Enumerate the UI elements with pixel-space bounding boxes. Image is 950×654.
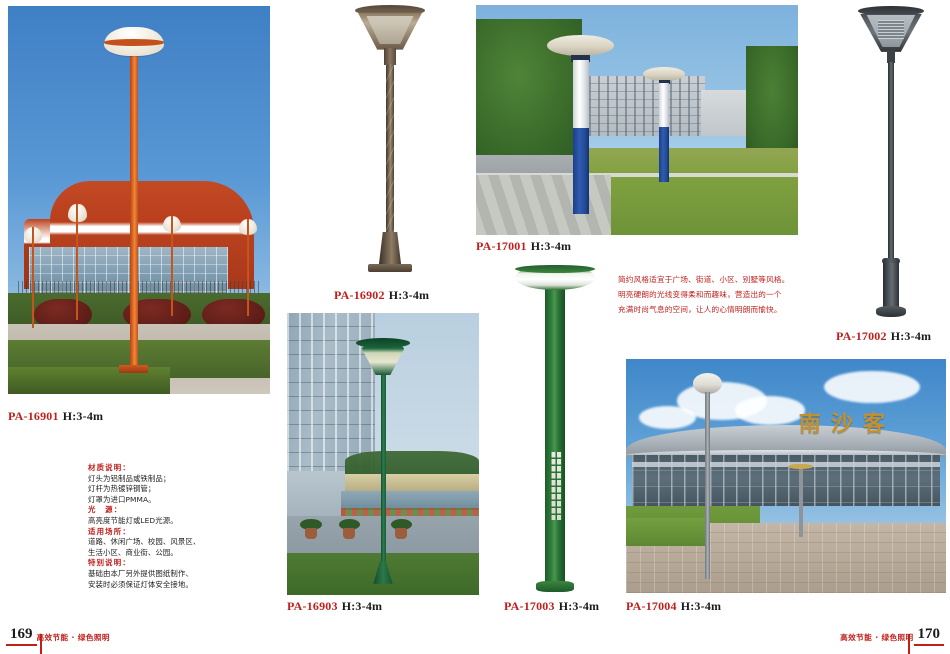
- caption-pa-17003: PA-17003H:3-4m: [504, 600, 599, 614]
- lamp-head-collar: [104, 39, 164, 45]
- footer-left: 169 高效节能 · 绿色照明: [6, 626, 110, 646]
- disc-shade-rim: [515, 265, 594, 273]
- pergola-canopy: [341, 474, 479, 491]
- sign-char-2: 沙: [831, 406, 853, 438]
- background-lamp-post: [68, 204, 86, 320]
- caption-pa-16903: PA-16903H:3-4m: [287, 600, 382, 614]
- product-photo-pa-17002: [836, 2, 946, 324]
- spec-light-heading: 光 源：: [88, 505, 268, 516]
- description-line-1: 简约风格适宜于广场、街道、小区、别墅等风格。: [618, 272, 848, 287]
- base-plate: [536, 581, 573, 592]
- spec-note-heading: 特别说明：: [88, 558, 268, 569]
- model-height: H:3-4m: [681, 599, 722, 613]
- green-lamp-pole: [381, 369, 386, 572]
- model-number: PA-17003: [504, 599, 555, 613]
- sign-char-3: 客: [863, 406, 885, 438]
- reflector-louver: [878, 20, 904, 39]
- spec-material-heading: 材质说明：: [88, 463, 268, 474]
- bronze-lamp-cutout: [310, 2, 470, 282]
- entrance-canopy: [632, 462, 939, 467]
- tree-row-right: [746, 46, 798, 156]
- base-plate: [876, 306, 907, 316]
- caption-pa-16902: PA-16902H:3-4m: [334, 289, 429, 303]
- model-height: H:3-4m: [559, 599, 600, 613]
- product-photo-pa-16903: [287, 313, 479, 595]
- gray-lamp-post: [693, 373, 722, 579]
- dark-lamp-cutout: [836, 2, 946, 324]
- pole-upper-white: [659, 83, 669, 127]
- disc-shade: [547, 35, 615, 57]
- planter-pot: [339, 519, 360, 539]
- caption-pa-17002: PA-17002H:3-4m: [836, 330, 931, 344]
- footer-slogan-right: 高效节能 · 绿色照明: [840, 632, 913, 646]
- product-photo-pa-16901: [8, 6, 270, 394]
- model-number: PA-17002: [836, 329, 887, 343]
- green-pole-lamp-cutout: [500, 258, 610, 598]
- background-lamp-post: [24, 227, 42, 328]
- lamp-pole: [888, 62, 895, 262]
- description-block: 简约风格适宜于广场、街道、小区、别墅等风格。 明亮硬朗的光线变得柔和而趣味，营造…: [618, 272, 848, 317]
- disc-shade: [693, 373, 722, 394]
- caption-pa-16901: PA-16901H:3-4m: [8, 410, 103, 424]
- footer-slogan-left: 高效节能 · 绿色照明: [37, 632, 110, 646]
- footer-divider-left: [40, 634, 42, 654]
- model-number: PA-17004: [626, 599, 677, 613]
- spec-place-line-1: 道路、休闲广场、校园、风景区、: [88, 537, 268, 548]
- description-line-3: 充满时尚气息的空间，让人的心情明朗而愉快。: [618, 302, 848, 317]
- blue-lamp-post-far: [643, 67, 685, 182]
- background-lamp-post: [799, 467, 803, 537]
- pole-foot: [379, 232, 401, 266]
- model-height: H:3-4m: [531, 239, 572, 253]
- lamp-neck: [384, 48, 397, 65]
- pole-foot: [883, 263, 900, 308]
- caption-pa-17001: PA-17001H:3-4m: [476, 240, 571, 254]
- footer-divider-right: [908, 634, 910, 654]
- spec-material-line-2: 灯杆为热镀锌钢管；: [88, 484, 268, 495]
- lamp-pole: [545, 285, 565, 584]
- model-number: PA-16903: [287, 599, 338, 613]
- terminal-sign: 南 沙 客: [799, 406, 940, 439]
- catalog-page: PA-16901H:3-4m PA-16902H:3-4m: [0, 0, 950, 654]
- spec-material-line-1: 灯头为铝制品或铁制品；: [88, 474, 268, 485]
- pole-lower-blue: [659, 127, 669, 182]
- spec-place-heading: 适用场所：: [88, 527, 268, 538]
- page-number-left: 169: [6, 626, 37, 646]
- spec-note-line-1: 基础由本厂另外提供图纸制作、: [88, 569, 268, 580]
- model-height: H:3-4m: [389, 288, 430, 302]
- lamp-base-plate: [119, 365, 148, 374]
- spec-light-line-1: 高亮度节能灯或LED光源。: [88, 516, 268, 527]
- model-height: H:3-4m: [63, 409, 104, 423]
- model-height: H:3-4m: [342, 599, 383, 613]
- spec-note-line-2: 安装时必须保证灯体安全接地。: [88, 580, 268, 591]
- footer-right: 高效节能 · 绿色照明 170: [840, 626, 944, 646]
- pole-upper-white: [573, 60, 589, 128]
- product-photo-pa-17001: [476, 5, 798, 235]
- description-line-2: 明亮硬朗的光线变得柔和而趣味，营造出的一个: [618, 287, 848, 302]
- product-photo-pa-17004: 南 沙 客: [626, 359, 946, 593]
- planter-pot: [300, 519, 321, 539]
- pole-twist-texture: [386, 64, 394, 232]
- product-photo-pa-17003: [500, 258, 610, 598]
- sign-char-1: 南: [799, 406, 821, 438]
- page-number-right: 170: [914, 626, 945, 646]
- base-plate: [368, 264, 413, 272]
- model-number: PA-16902: [334, 288, 385, 302]
- blue-lamp-post-near: [547, 35, 615, 214]
- orange-lamp-pole: [130, 53, 138, 371]
- cloud: [735, 396, 805, 424]
- window-panel-grid: [550, 452, 562, 520]
- model-number: PA-16901: [8, 409, 59, 423]
- spec-place-line-2: 生活小区、商业街、公园。: [88, 548, 268, 559]
- background-lamp-post: [163, 216, 181, 317]
- planter-pot: [391, 519, 412, 539]
- specification-block: 材质说明： 灯头为铝制品或铁制品； 灯杆为热镀锌钢管； 灯罩为进口PMMA。 光…: [88, 463, 268, 590]
- pole-lower-blue: [573, 128, 589, 214]
- background-lamp-post: [239, 219, 257, 316]
- product-photo-pa-16902: [310, 2, 470, 282]
- model-height: H:3-4m: [891, 329, 932, 343]
- caption-pa-17004: PA-17004H:3-4m: [626, 600, 721, 614]
- model-number: PA-17001: [476, 239, 527, 253]
- lamp-pole: [705, 392, 711, 579]
- spec-material-line-3: 灯罩为进口PMMA。: [88, 495, 268, 506]
